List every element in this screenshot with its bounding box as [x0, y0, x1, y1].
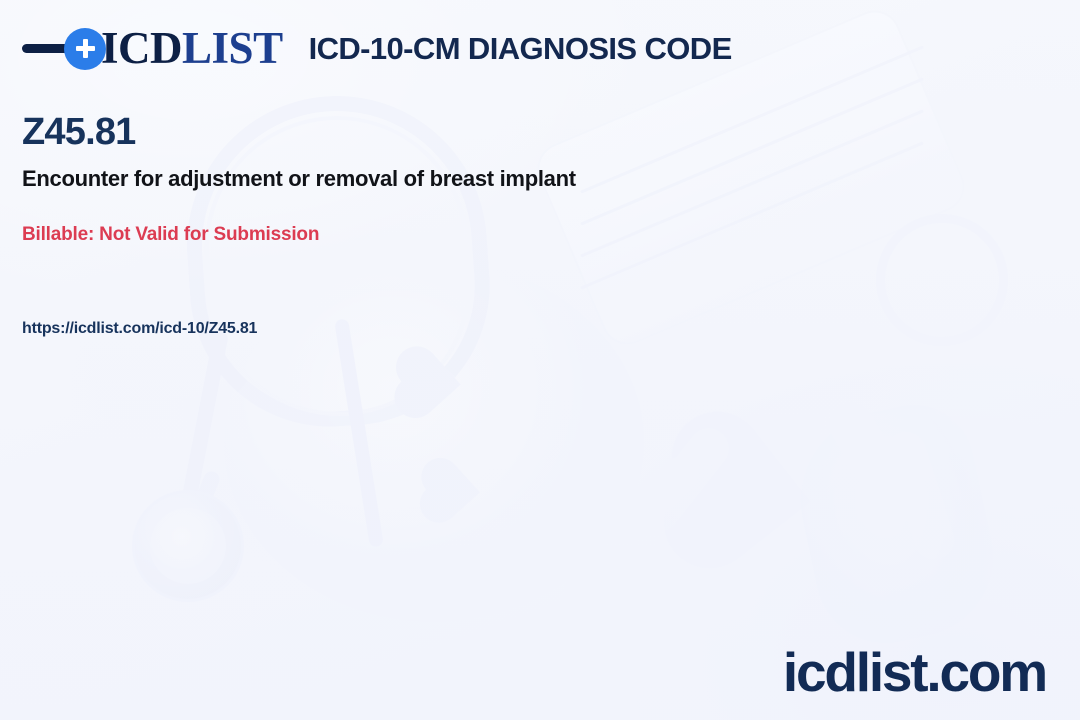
header: ICDLIST ICD-10-CM DIAGNOSIS CODE [22, 26, 732, 71]
diagnosis-code: Z45.81 [22, 113, 136, 151]
diagnosis-description: Encounter for adjustment or removal of b… [22, 166, 576, 192]
icdlist-logo[interactable]: ICDLIST [22, 26, 283, 71]
page-title: ICD-10-CM DIAGNOSIS CODE [309, 31, 732, 67]
billable-status: Billable: Not Valid for Submission [22, 224, 319, 246]
site-watermark: icdlist.com [783, 645, 1046, 700]
icd-code-card: ICDLIST ICD-10-CM DIAGNOSIS CODE Z45.81 … [0, 0, 1080, 720]
logo-wordmark: ICDLIST [101, 26, 283, 71]
logo-word-icd: ICD [101, 23, 182, 73]
plus-vertical-bar [83, 39, 88, 58]
logo-word-list: LIST [182, 23, 283, 73]
logo-dash-icon [22, 44, 70, 53]
card-content: ICDLIST ICD-10-CM DIAGNOSIS CODE Z45.81 … [0, 0, 1080, 720]
plus-circle-icon [64, 28, 106, 70]
source-url[interactable]: https://icdlist.com/icd-10/Z45.81 [22, 320, 257, 338]
